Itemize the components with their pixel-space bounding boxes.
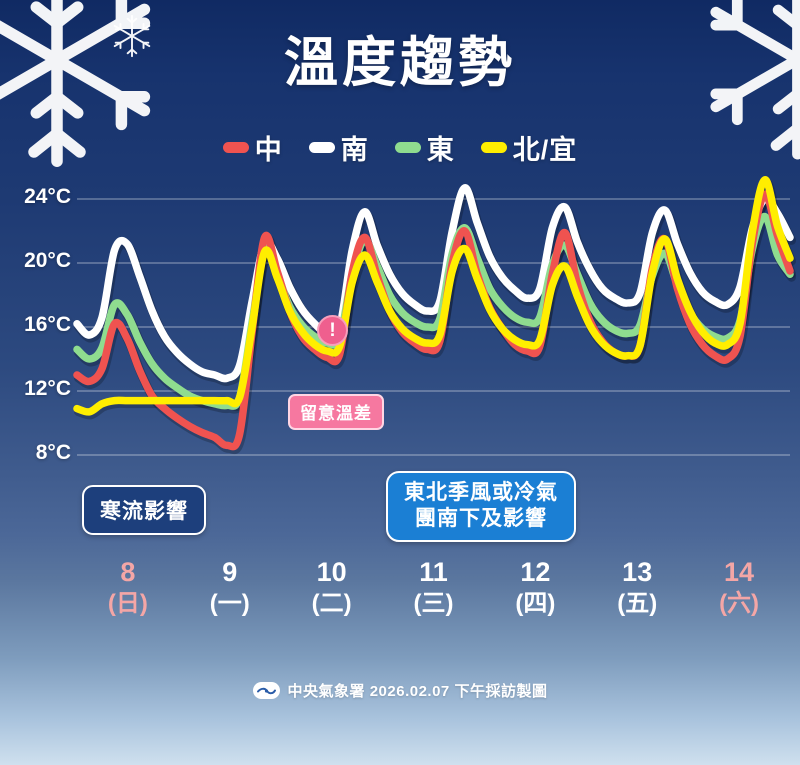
chart-series	[77, 180, 792, 450]
event-box-cold-wave: 寒流影響	[82, 485, 206, 535]
event-box-northeast-monsoon-line2: 團南下及影響	[404, 506, 558, 532]
x-axis-weekday: (二)	[281, 588, 383, 619]
footer: 中央氣象署 2026.02.07 下午採訪製圖	[0, 680, 800, 701]
series-line-中	[77, 194, 790, 447]
cwa-logo-icon	[253, 682, 280, 699]
x-axis-weekday: (五)	[586, 588, 688, 619]
x-axis-day-13: 13(五)	[586, 556, 688, 619]
y-tick-label: 16°C	[5, 313, 71, 337]
y-tick-label: 24°C	[5, 185, 71, 209]
x-axis-day-number: 12	[484, 556, 586, 588]
x-axis-weekday: (四)	[484, 588, 586, 619]
y-tick-label: 12°C	[5, 377, 71, 401]
warning-exclamation-glyph: !	[329, 321, 335, 340]
x-axis-day-number: 11	[383, 556, 485, 588]
weather-chart-page: 溫度趨勢 中 南 東 北/宜 24°C20°C16°C12°C8°C ! 留意溫…	[0, 0, 800, 765]
x-axis-day-11: 11(三)	[383, 556, 485, 619]
warning-badge-temp-diff: 留意溫差	[288, 394, 384, 430]
x-axis-day-8: 8(日)	[77, 556, 179, 619]
x-axis-day-number: 13	[586, 556, 688, 588]
y-tick-label: 20°C	[5, 249, 71, 273]
x-axis-day-number: 14	[688, 556, 790, 588]
x-axis-day-number: 8	[77, 556, 179, 588]
series-line-北/宜	[77, 180, 790, 412]
x-axis-day-number: 10	[281, 556, 383, 588]
x-axis-weekday: (一)	[179, 588, 281, 619]
x-axis-weekday: (六)	[688, 588, 790, 619]
x-axis-day-9: 9(一)	[179, 556, 281, 619]
event-box-northeast-monsoon: 東北季風或冷氣 團南下及影響	[386, 471, 576, 542]
x-axis-day-12: 12(四)	[484, 556, 586, 619]
x-axis-day-10: 10(二)	[281, 556, 383, 619]
chart-canvas	[0, 0, 800, 765]
x-axis-day-14: 14(六)	[688, 556, 790, 619]
x-axis-day-number: 9	[179, 556, 281, 588]
warning-exclamation-icon[interactable]: !	[317, 315, 348, 346]
footer-credit-text: 中央氣象署 2026.02.07 下午採訪製圖	[288, 680, 548, 701]
x-axis-weekday: (三)	[383, 588, 485, 619]
y-tick-label: 8°C	[5, 441, 71, 465]
x-axis-weekday: (日)	[77, 588, 179, 619]
chart-x-axis: 8(日)9(一)10(二)11(三)12(四)13(五)14(六)	[0, 556, 800, 636]
temperature-chart: 24°C20°C16°C12°C8°C	[0, 0, 800, 765]
event-box-northeast-monsoon-line1: 東北季風或冷氣	[404, 480, 558, 506]
